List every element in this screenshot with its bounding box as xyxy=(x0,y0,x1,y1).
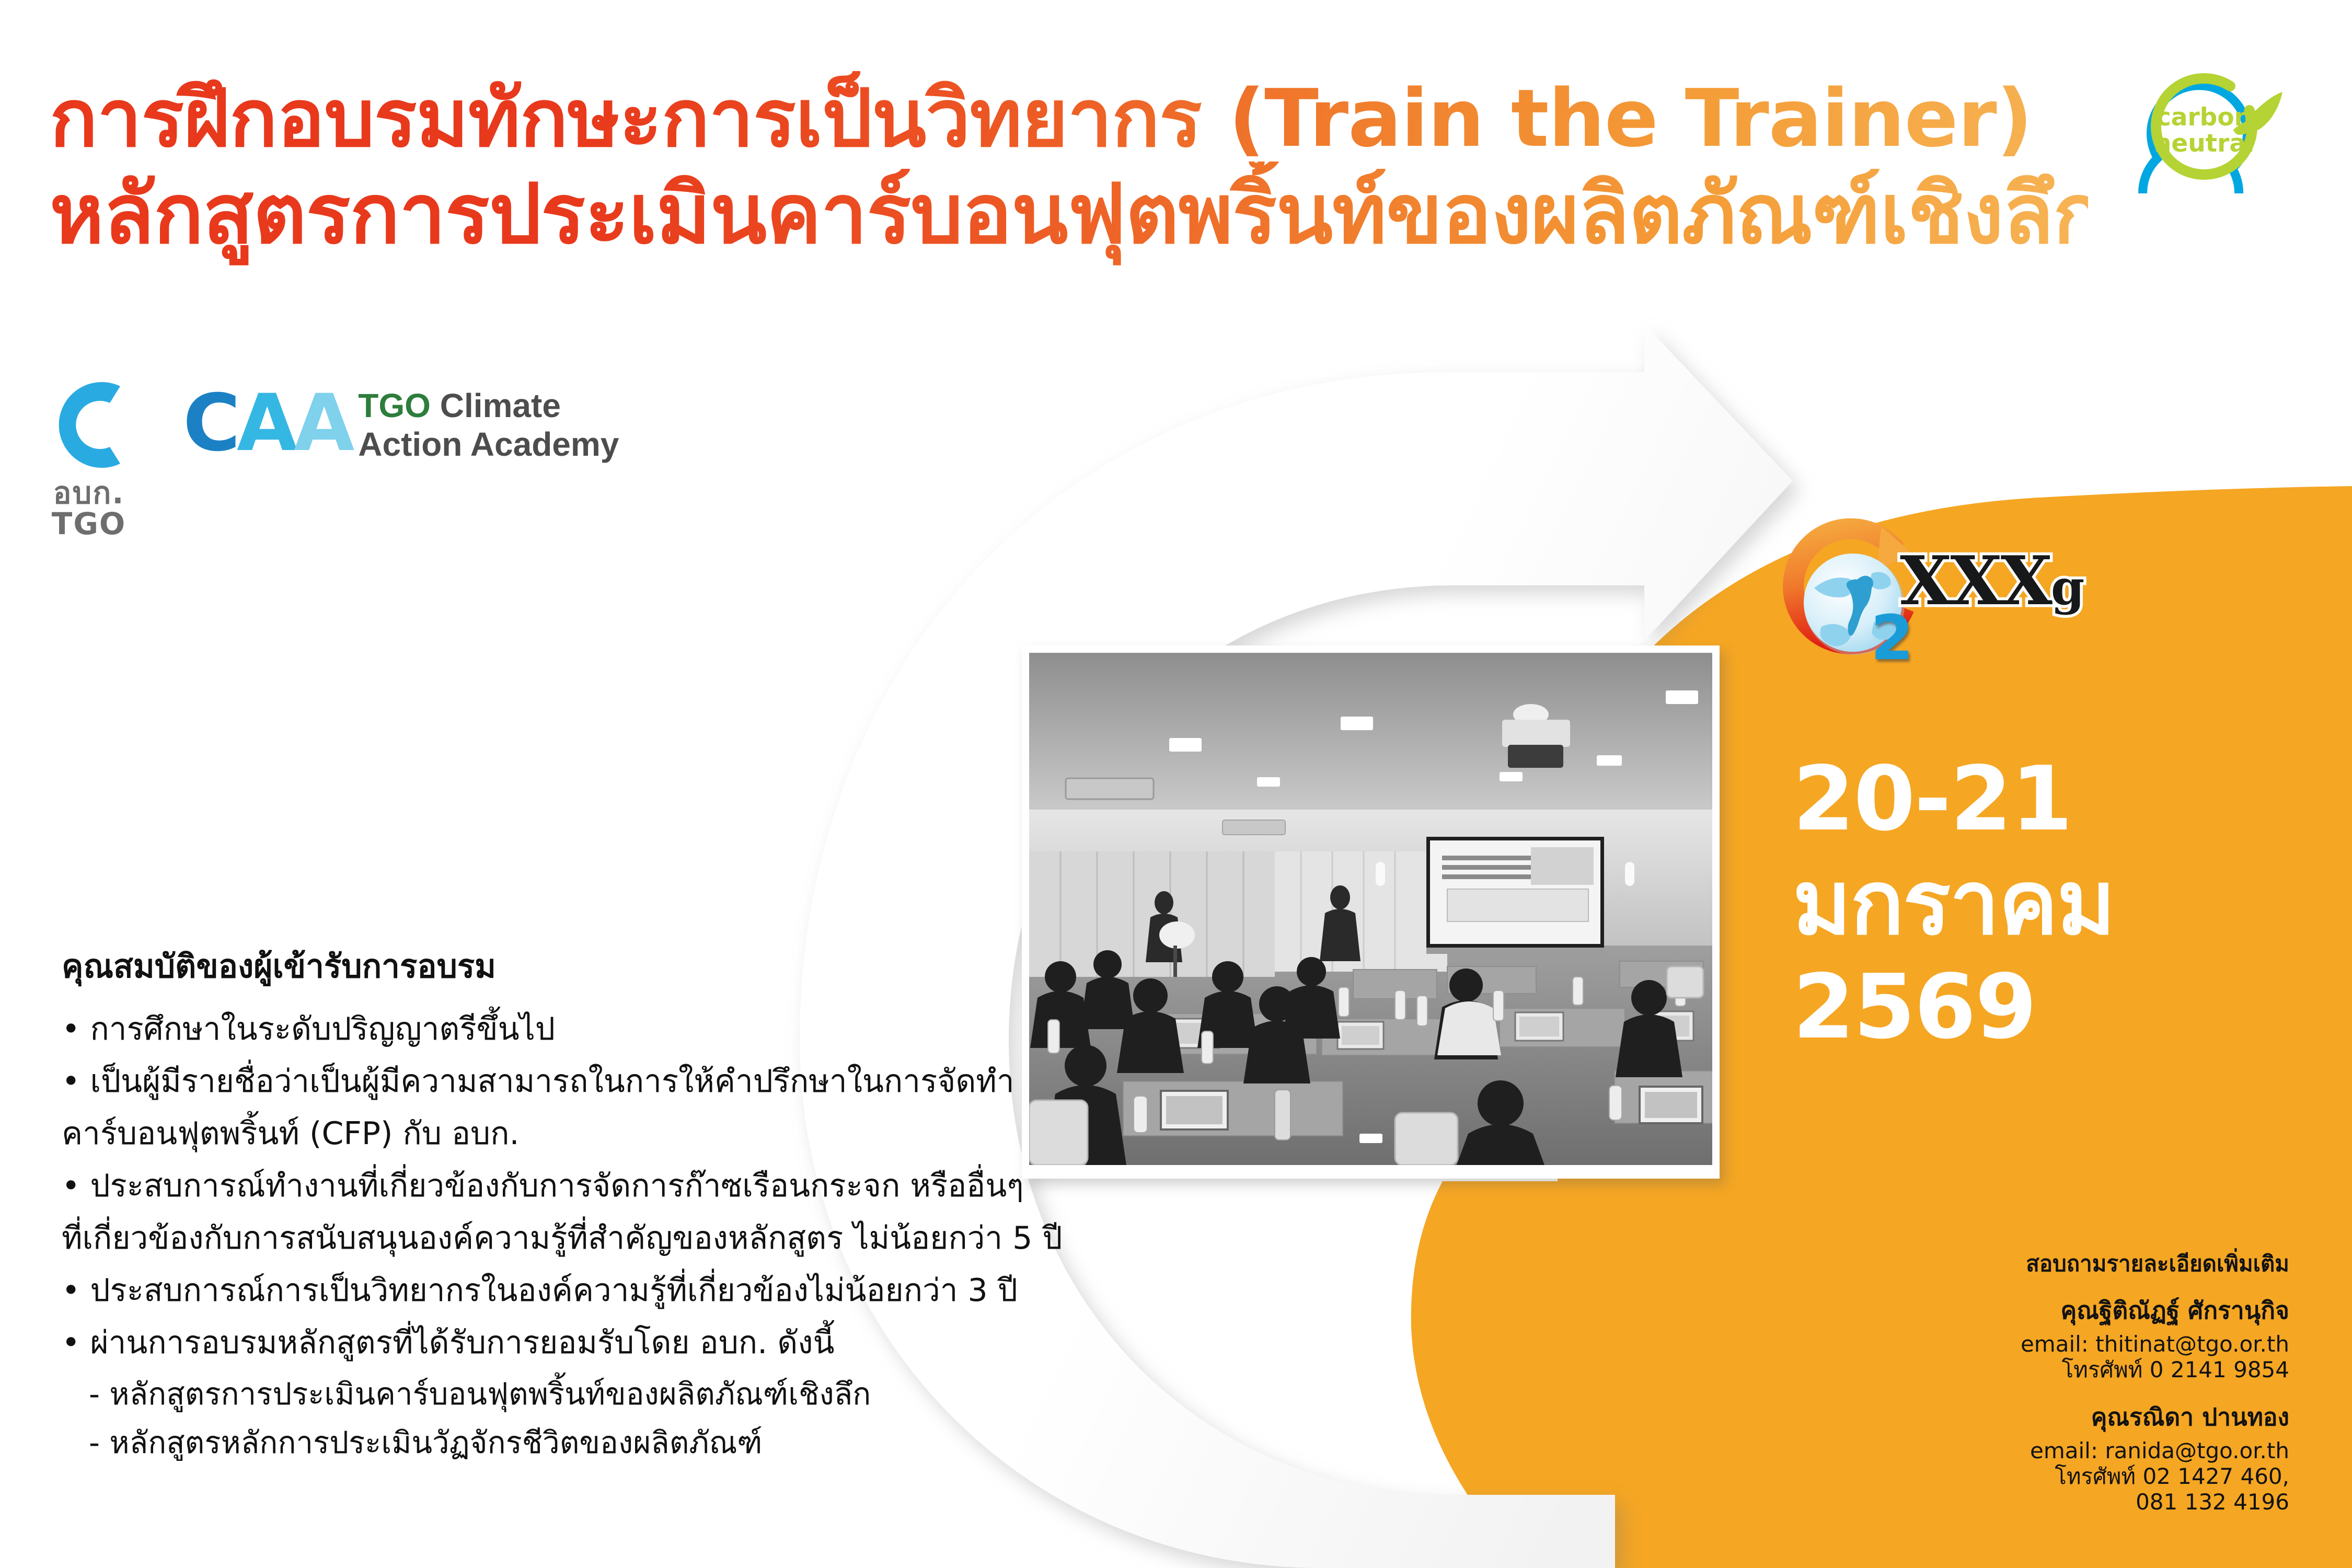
tgo-logo-subtext: อบก. TGO xyxy=(37,478,141,539)
date-line-2: มกราคม xyxy=(1793,851,2263,955)
caa-letter-c: C xyxy=(183,385,237,462)
qualification-item: • เป็นผู้มีรายชื่อว่าเป็นผู้มีความสามารถ… xyxy=(62,1061,1086,1102)
carbon-footprint-label: 2 XXXg xyxy=(1769,515,2041,687)
contact-person-1-name: คุณฐิติณัฏฐ์ ศักรานุกิจ xyxy=(1850,1292,2289,1330)
title-line-2: หลักสูตรการประเมินคาร์บอนฟุตพริ้นท์ของผล… xyxy=(50,162,2088,267)
qualification-item-cont: ที่เกี่ยวข้องกับการสนับสนุนองค์ความรู้ที… xyxy=(62,1218,1086,1259)
qualification-item: • ผ่านการอบรมหลักสูตรที่ได้รับการยอมรับโ… xyxy=(62,1322,1086,1363)
qualification-subitem: - หลักสูตรการประเมินคาร์บอนฟุตพริ้นท์ของ… xyxy=(62,1375,1086,1414)
contact-person-2-email[interactable]: email: ranida@tgo.or.th xyxy=(1850,1438,2289,1464)
co2-subscript: 2 xyxy=(1871,602,1913,674)
date-line-1: 20-21 xyxy=(1793,747,2263,851)
tgo-sub-en: TGO xyxy=(37,509,141,539)
contact-person-2-phone-2[interactable]: 081 132 4196 xyxy=(1850,1490,2289,1515)
contact-section: สอบถามรายละเอียดเพิ่มเติม คุณฐิติณัฏฐ์ ศ… xyxy=(1850,1247,2289,1515)
photo-frame xyxy=(1029,653,1712,1165)
training-room-photo xyxy=(1022,645,1720,1179)
poster-canvas: การฝึกอบรมทักษะการเป็นวิทยากร (Train the… xyxy=(0,0,2352,1568)
poster-title: การฝึกอบรมทักษะการเป็นวิทยากร (Train the… xyxy=(50,68,2088,267)
contact-spacer xyxy=(1850,1382,2289,1398)
badge-carbon-text: carbon xyxy=(2157,103,2252,132)
badge-neutral-text: neutral xyxy=(2154,129,2254,158)
event-date: 20-21 มกราคม 2569 xyxy=(1793,747,2263,1059)
logo-row: อบก. TGO C A A TGO Climate Action Academ… xyxy=(37,374,619,539)
caa-letter-a2: A xyxy=(294,385,351,462)
tgo-logo: อบก. TGO xyxy=(37,374,152,539)
carbon-neutral-badge-icon: carbon neutral xyxy=(2135,63,2287,193)
contact-heading: สอบถามรายละเอียดเพิ่มเติม xyxy=(1850,1247,2289,1281)
qualification-item: • การศึกษาในระดับปริญญาตรีขึ้นไป xyxy=(62,1009,1086,1050)
title-line-1: การฝึกอบรมทักษะการเป็นวิทยากร (Train the… xyxy=(50,68,2088,170)
caa-climate-text: Climate xyxy=(440,387,561,424)
contact-person-1-email[interactable]: email: thitinat@tgo.or.th xyxy=(1850,1332,2289,1357)
contact-person-2-phone-1[interactable]: โทรศัพท์ 02 1427 460, xyxy=(1850,1464,2289,1490)
qualification-subitem: - หลักสูตรหลักการประเมินวัฏจักรชีวิตของผ… xyxy=(62,1423,1086,1462)
qualification-item: • ประสบการณ์การเป็นวิทยากรในองค์ความรู้ท… xyxy=(62,1270,1086,1311)
caa-subtitle-line2: Action Academy xyxy=(358,427,619,463)
caa-letter-a1: A xyxy=(237,385,294,462)
qualification-item-cont: คาร์บอนฟุตพริ้นท์ (CFP) กับ อบก. xyxy=(62,1113,1086,1154)
caa-wordmark: C A A xyxy=(183,385,351,462)
caa-subtitle-line1: TGO Climate xyxy=(358,388,619,424)
orange-lower-wedge xyxy=(1338,1181,1850,1568)
caa-tgo-text: TGO xyxy=(358,387,431,424)
co2-value: XXX xyxy=(1900,542,2051,620)
caa-subtitle: TGO Climate Action Academy xyxy=(358,388,619,463)
qualifications-section: คุณสมบัติของผู้เข้ารับการอบรม • การศึกษา… xyxy=(62,941,1086,1472)
contact-person-2-name: คุณรณิดา ปานทอง xyxy=(1850,1398,2289,1436)
co2-unit: g xyxy=(2051,559,2083,616)
contact-person-1-phone[interactable]: โทรศัพท์ 0 2141 9854 xyxy=(1850,1357,2289,1383)
caa-logo: C A A TGO Climate Action Academy xyxy=(183,385,619,463)
date-line-3: 2569 xyxy=(1793,955,2263,1059)
qualification-item: • ประสบการณ์ทำงานที่เกี่ยวข้องกับการจัดก… xyxy=(62,1166,1086,1206)
tgo-sub-th: อบก. xyxy=(37,478,141,509)
co2-value-text: XXXg xyxy=(1900,542,2083,620)
qualifications-heading: คุณสมบัติของผู้เข้ารับการอบรม xyxy=(62,941,1086,992)
